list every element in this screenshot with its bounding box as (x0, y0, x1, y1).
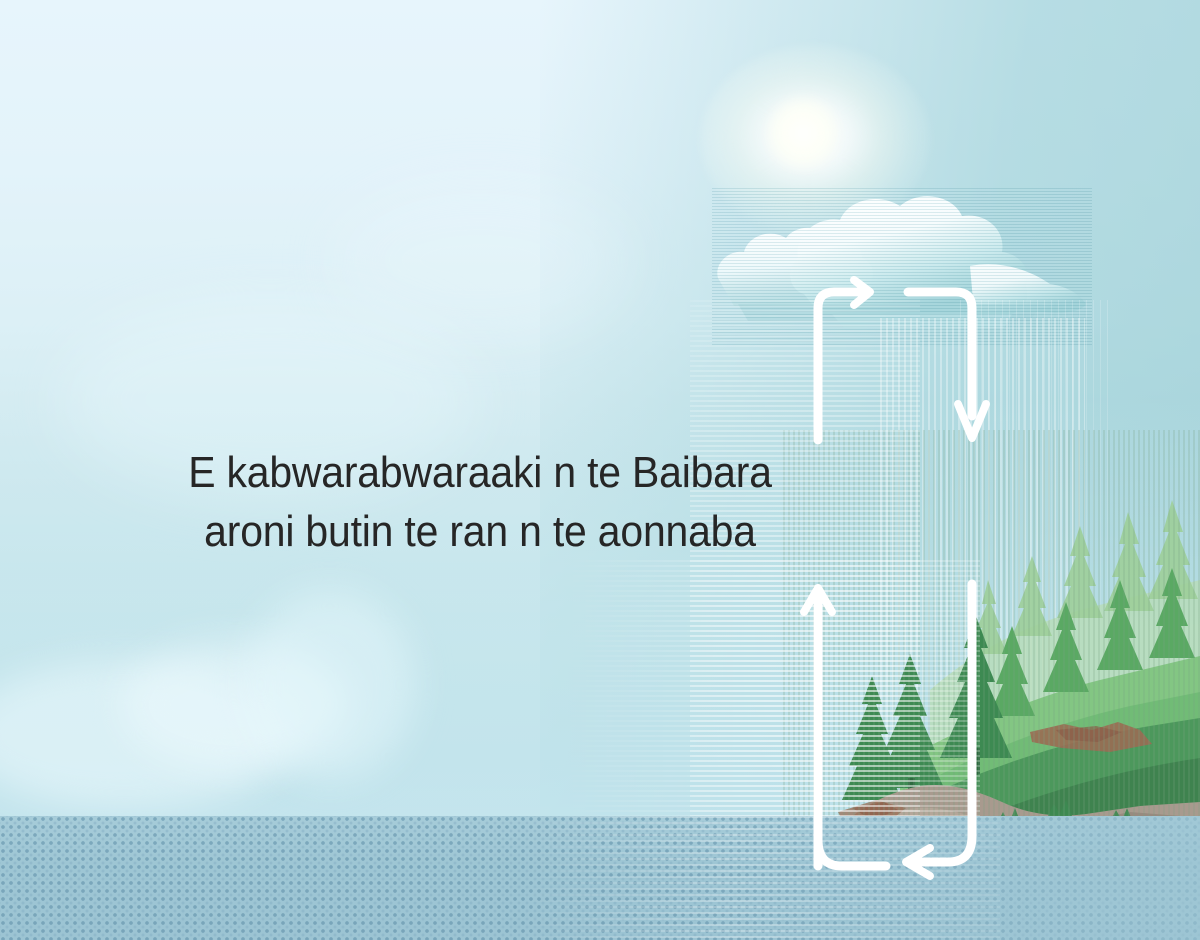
page-title: E kabwarabwaraaki n te Baibara aroni but… (173, 443, 787, 562)
soft-cloud-haze-mid (330, 180, 630, 340)
ocean (0, 816, 1200, 940)
ocean-mist-streaks (520, 816, 1000, 940)
sun-icon (768, 98, 838, 168)
slide-canvas: E kabwarabwaraaki n te Baibara aroni but… (0, 0, 1200, 940)
soft-cloud-haze-low-right (245, 590, 415, 780)
